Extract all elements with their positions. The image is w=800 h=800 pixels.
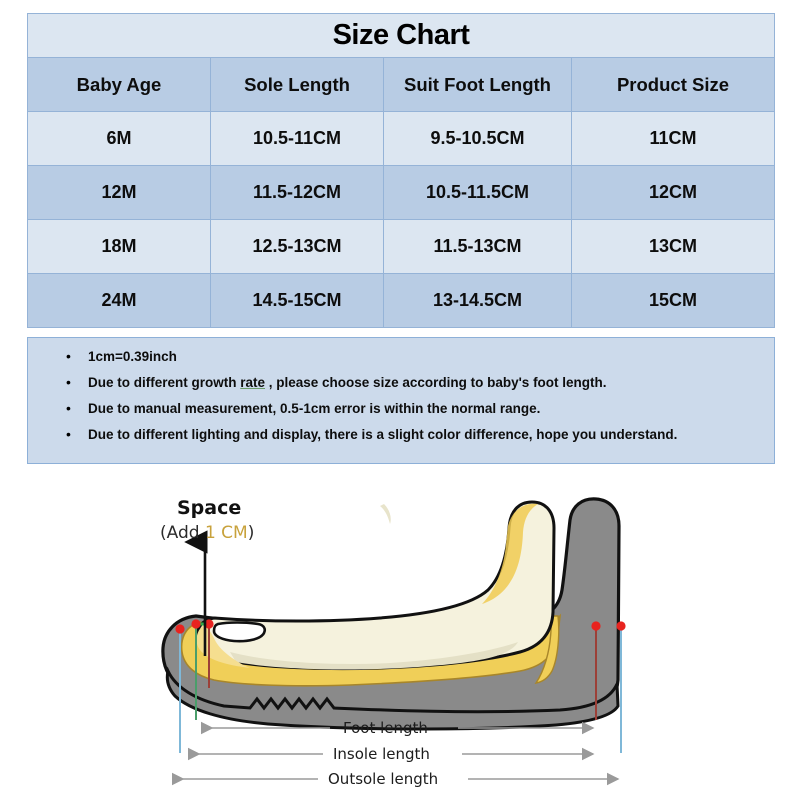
cell-product-size: 13CM: [572, 220, 774, 273]
column-header-baby-age: Baby Age: [28, 58, 211, 111]
leg-crease-detail: [380, 504, 391, 524]
cell-baby-age: 18M: [28, 220, 211, 273]
marker-dot: [175, 624, 184, 633]
list-item: • Due to different growth rate , please …: [28, 374, 774, 391]
insole-length-label: Insole length: [333, 745, 430, 763]
cell-baby-age: 6M: [28, 112, 211, 165]
outsole-length-label: Outsole length: [328, 770, 438, 788]
bullet-icon: •: [66, 374, 88, 391]
big-toe-shape: [214, 623, 265, 642]
note-text: Due to manual measurement, 0.5-1cm error…: [88, 400, 540, 417]
note-text-prefix: Due to different growth: [88, 375, 240, 390]
table-row: 6M 10.5-11CM 9.5-10.5CM 11CM: [28, 112, 774, 166]
cell-suit-foot-length: 9.5-10.5CM: [384, 112, 572, 165]
column-header-sole-length: Sole Length: [211, 58, 384, 111]
column-header-suit-foot-length: Suit Foot Length: [384, 58, 572, 111]
cell-product-size: 12CM: [572, 166, 774, 219]
notes-panel: • 1cm=0.39inch • Due to different growth…: [27, 337, 775, 464]
note-text: 1cm=0.39inch: [88, 348, 177, 365]
cell-baby-age: 24M: [28, 274, 211, 327]
cell-sole-length: 12.5-13CM: [211, 220, 384, 273]
cell-sole-length: 14.5-15CM: [211, 274, 384, 327]
size-chart-table: Size Chart Baby Age Sole Length Suit Foo…: [27, 13, 775, 328]
marker-dot: [591, 621, 600, 630]
chart-title-row: Size Chart: [28, 14, 774, 58]
cell-sole-length: 10.5-11CM: [211, 112, 384, 165]
table-row: 24M 14.5-15CM 13-14.5CM 15CM: [28, 274, 774, 327]
marker-dot: [191, 619, 200, 628]
page-title: Size Chart: [333, 19, 470, 52]
bullet-icon: •: [66, 400, 88, 417]
table-header-row: Baby Age Sole Length Suit Foot Length Pr…: [28, 58, 774, 112]
cell-product-size: 15CM: [572, 274, 774, 327]
note-text-suffix: , please choose size according to baby's…: [265, 375, 607, 390]
note-text-underlined: rate: [240, 375, 265, 390]
list-item: • Due to manual measurement, 0.5-1cm err…: [28, 400, 774, 417]
list-item: • 1cm=0.39inch: [28, 348, 774, 365]
note-text: Due to different lighting and display, t…: [88, 426, 677, 443]
cell-sole-length: 11.5-12CM: [211, 166, 384, 219]
cell-suit-foot-length: 13-14.5CM: [384, 274, 572, 327]
cell-product-size: 11CM: [572, 112, 774, 165]
bullet-icon: •: [66, 426, 88, 443]
size-chart-page: Size Chart Baby Age Sole Length Suit Foo…: [0, 0, 800, 800]
space-label: Space: [177, 497, 241, 519]
table-row: 18M 12.5-13CM 11.5-13CM 13CM: [28, 220, 774, 274]
foot-measurement-diagram: Space (Add 1 CM) Foot length Insole leng…: [0, 466, 800, 800]
cell-baby-age: 12M: [28, 166, 211, 219]
bullet-icon: •: [66, 348, 88, 365]
space-add-value: 1 CM: [205, 523, 248, 543]
list-item: • Due to different lighting and display,…: [28, 426, 774, 443]
column-header-product-size: Product Size: [572, 58, 774, 111]
marker-dot: [616, 621, 625, 630]
cell-suit-foot-length: 11.5-13CM: [384, 220, 572, 273]
cell-suit-foot-length: 10.5-11.5CM: [384, 166, 572, 219]
space-add-label: (Add 1 CM): [160, 523, 254, 543]
foot-length-label: Foot length: [343, 719, 428, 737]
note-text: Due to different growth rate , please ch…: [88, 374, 607, 391]
space-add-prefix: (Add: [160, 523, 205, 543]
table-row: 12M 11.5-12CM 10.5-11.5CM 12CM: [28, 166, 774, 220]
space-add-suffix: ): [248, 523, 255, 543]
